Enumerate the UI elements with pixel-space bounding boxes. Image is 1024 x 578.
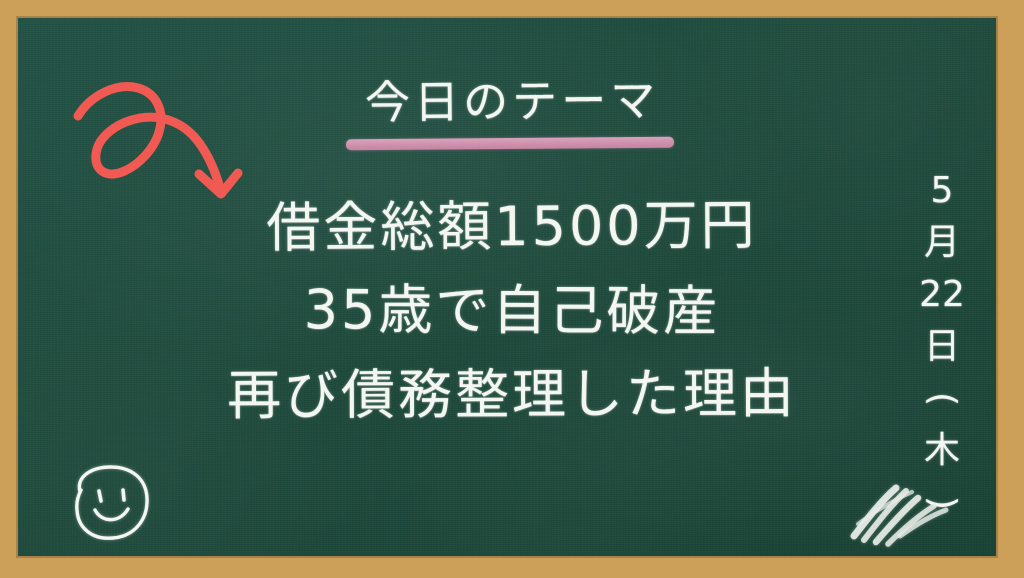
smiley-outline <box>77 467 147 538</box>
smiley-face-icon <box>66 462 158 548</box>
thumbnail-canvas: 今日のテーマ 借金総額1500万円 35歳で自己破産 再び債務整理した理由 5 … <box>0 0 1024 578</box>
headline-line-1: 借金総額1500万円 <box>0 182 1024 272</box>
headline-line-3: 再び債務整理した理由 <box>0 351 1024 439</box>
chalk-scribble-icon <box>848 478 966 548</box>
smiley-doodle <box>66 462 158 548</box>
date-char-day-kanji: 日 <box>912 321 972 373</box>
content-layer: 今日のテーマ 借金総額1500万円 35歳で自己破産 再び債務整理した理由 5 … <box>0 0 1024 578</box>
title-underline <box>346 137 674 151</box>
date-char-month-number: 5 <box>912 165 972 217</box>
scribble-doodle <box>848 478 966 548</box>
headline-line-2: 35歳で自己破産 <box>0 267 1024 355</box>
date-block: 5 月 22 日 ( 木 ) <box>912 165 972 529</box>
title-block: 今日のテーマ <box>0 78 1024 125</box>
smiley-mouth <box>95 509 128 520</box>
headline-block: 借金総額1500万円 35歳で自己破産 再び債務整理した理由 <box>0 185 1024 437</box>
smiley-eye-left <box>99 491 101 501</box>
page-title: 今日のテーマ <box>365 77 660 127</box>
date-char-month-kanji: 月 <box>912 217 972 269</box>
date-char-day-number: 22 <box>912 269 972 321</box>
date-char-paren-open: ( <box>916 369 968 429</box>
smiley-eye-right <box>123 490 124 500</box>
date-char-weekday: 木 <box>912 425 972 477</box>
